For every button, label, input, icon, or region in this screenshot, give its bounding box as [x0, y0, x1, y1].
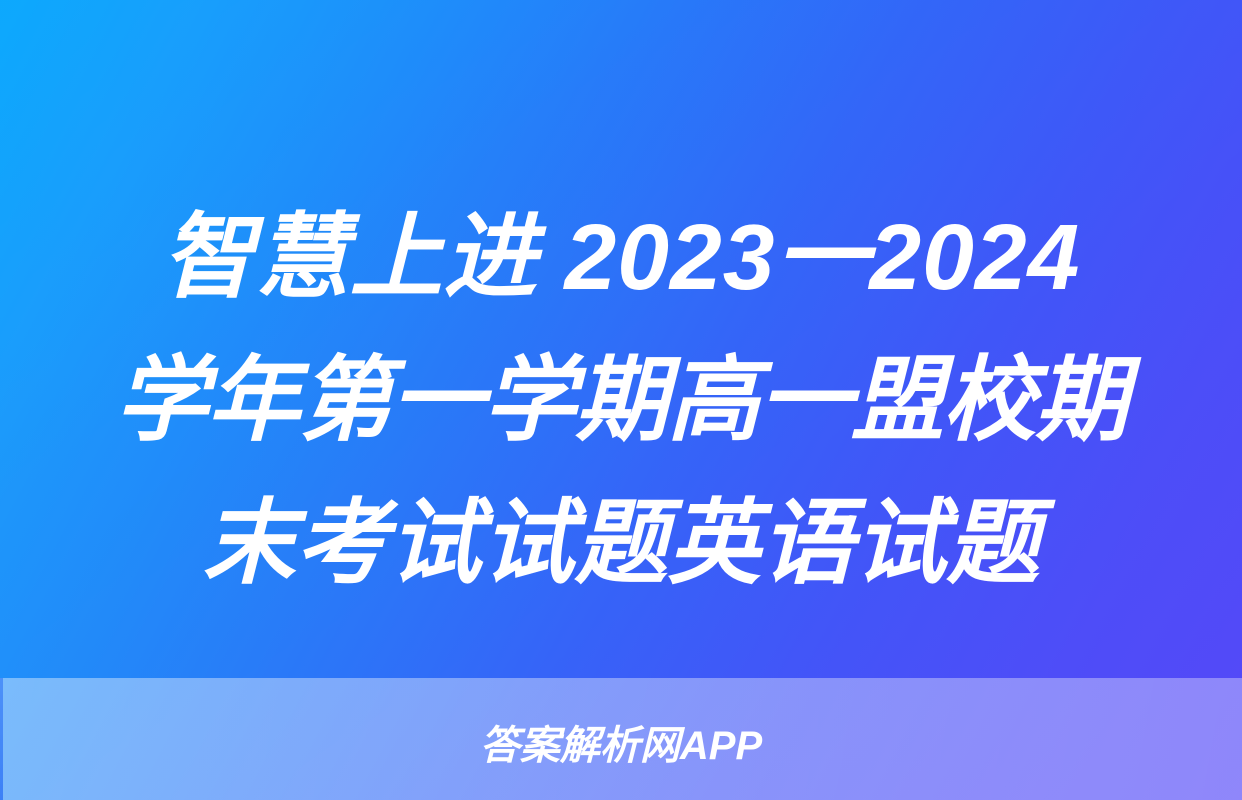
title-line-2: 学年第一学期高一盟校期 — [46, 329, 1196, 472]
footer-brand-label: 答案解析网APP — [480, 722, 762, 770]
page-title: 智慧上进 2023一2024 学年第一学期高一盟校期 末考试试题英语试题 — [0, 186, 1242, 615]
cover-card: 智慧上进 2023一2024 学年第一学期高一盟校期 末考试试题英语试题 答案解… — [0, 0, 1242, 800]
footer-band: 答案解析网APP — [0, 678, 1242, 800]
title-line-1: 智慧上进 2023一2024 — [46, 186, 1196, 329]
title-line-3: 末考试试题英语试题 — [46, 472, 1196, 615]
